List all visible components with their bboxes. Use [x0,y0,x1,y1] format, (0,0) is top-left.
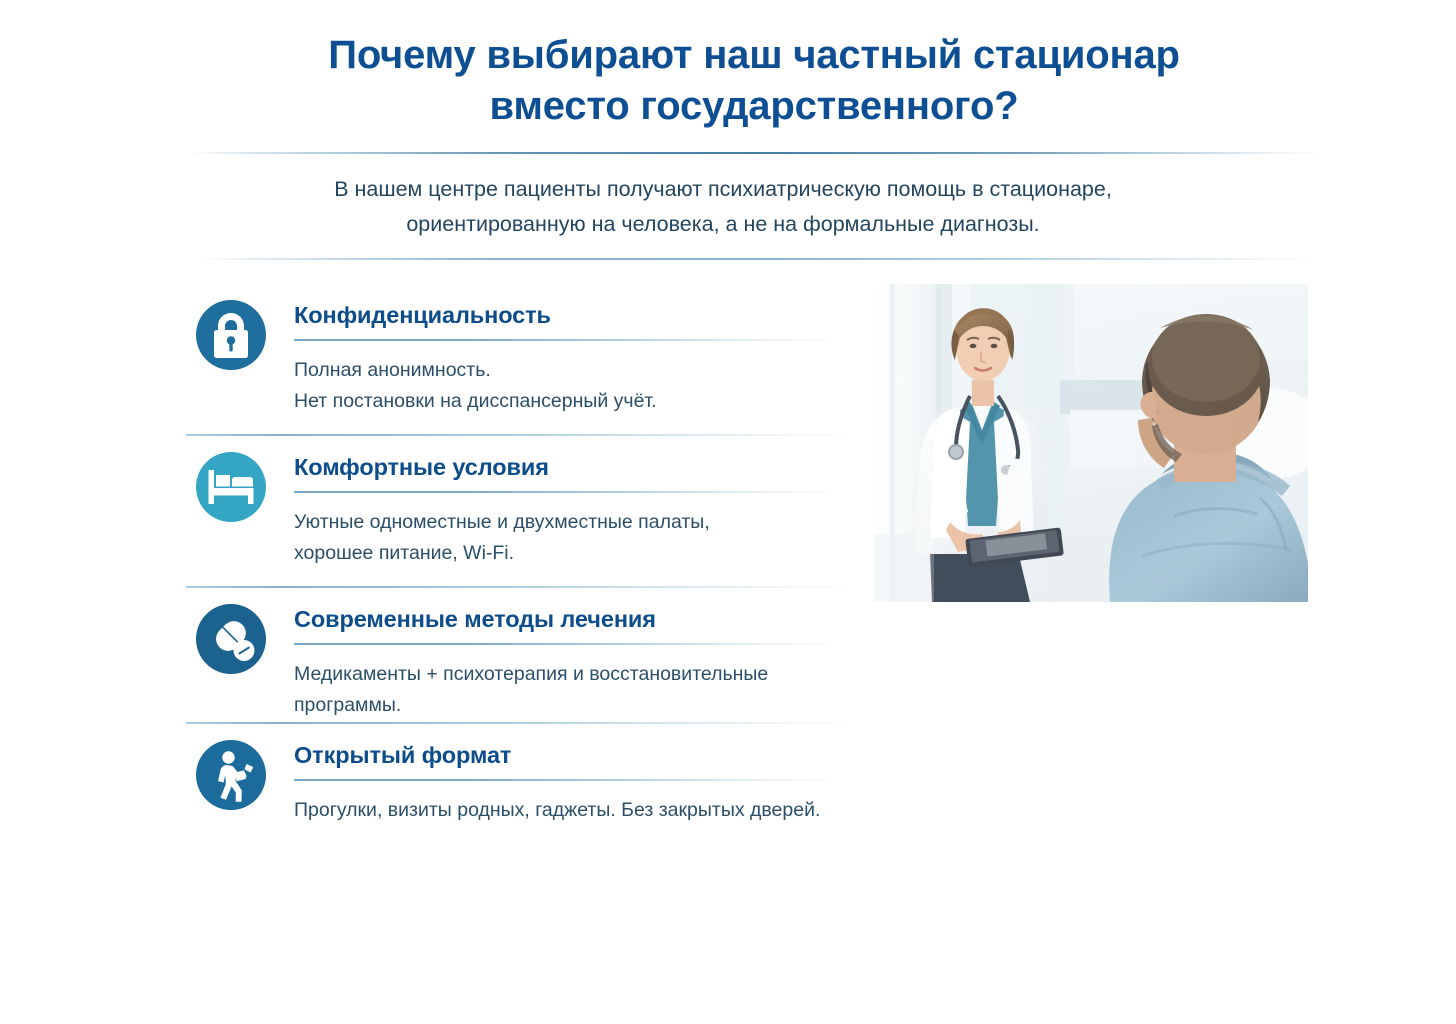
feature-body-line-1: Медикаменты + психотерапия и восстановит… [294,659,866,722]
feature-item-treatment: Современные методы лечения Медикаменты +… [186,588,866,724]
feature-heading: Открытый формат [294,724,866,770]
divider-under-title [186,152,1320,154]
feature-body: Уютные одноместные и двухместные палаты,… [294,507,866,570]
feature-body-line-1: Полная анонимность. [294,355,866,387]
intro-line-2: ориентированную на человека, а не на фор… [188,207,1258,242]
intro-paragraph: В нашем центре пациенты получают психиат… [188,172,1258,242]
feature-heading: Конфиденциальность [294,284,866,330]
feature-item-comfort: Комфортные условия Уютные одноместные и … [186,436,866,588]
page-title: Почему выбирают наш частный стационар вм… [188,30,1320,132]
feature-body: Прогулки, визиты родных, гаджеты. Без за… [294,795,866,827]
feature-heading: Комфортные условия [294,436,866,482]
feature-item-confidentiality: Конфиденциальность Полная анонимность. Н… [186,284,866,436]
heading-underline [294,643,842,645]
divider-under-intro [200,258,1320,260]
feature-body-line-1: Прогулки, визиты родных, гаджеты. Без за… [294,795,866,827]
walking-person-icon [194,738,268,812]
title-line-1: Почему выбирают наш частный стационар [328,33,1179,77]
intro-line-1: В нашем центре пациенты получают психиат… [334,177,1112,201]
hospital-bed-icon [194,450,268,524]
feature-heading: Современные методы лечения [294,588,866,634]
padlock-icon [194,298,268,372]
slide-root: Почему выбирают наш частный стационар вм… [0,0,1456,1024]
heading-underline [294,491,842,493]
feature-body-line-2: Нет постановки на дисспансерный учёт. [294,386,866,418]
heading-underline [294,779,842,781]
title-text: Почему выбирают наш частный стационар вм… [188,30,1320,132]
heading-underline [294,339,842,341]
feature-body: Полная анонимность. Нет постановки на ди… [294,355,866,418]
pills-icon [194,602,268,676]
feature-item-open-format: Открытый формат Прогулки, визиты родных,… [186,724,866,844]
feature-body: Медикаменты + психотерапия и восстановит… [294,659,866,722]
feature-body-line-2: хорошее питание, Wi-Fi. [294,538,866,570]
doctor-patient-consultation-photo [874,284,1308,602]
title-line-2: вместо государственного? [188,81,1320,132]
feature-body-line-1: Уютные одноместные и двухместные палаты, [294,507,866,539]
feature-list: Конфиденциальность Полная анонимность. Н… [186,284,866,844]
